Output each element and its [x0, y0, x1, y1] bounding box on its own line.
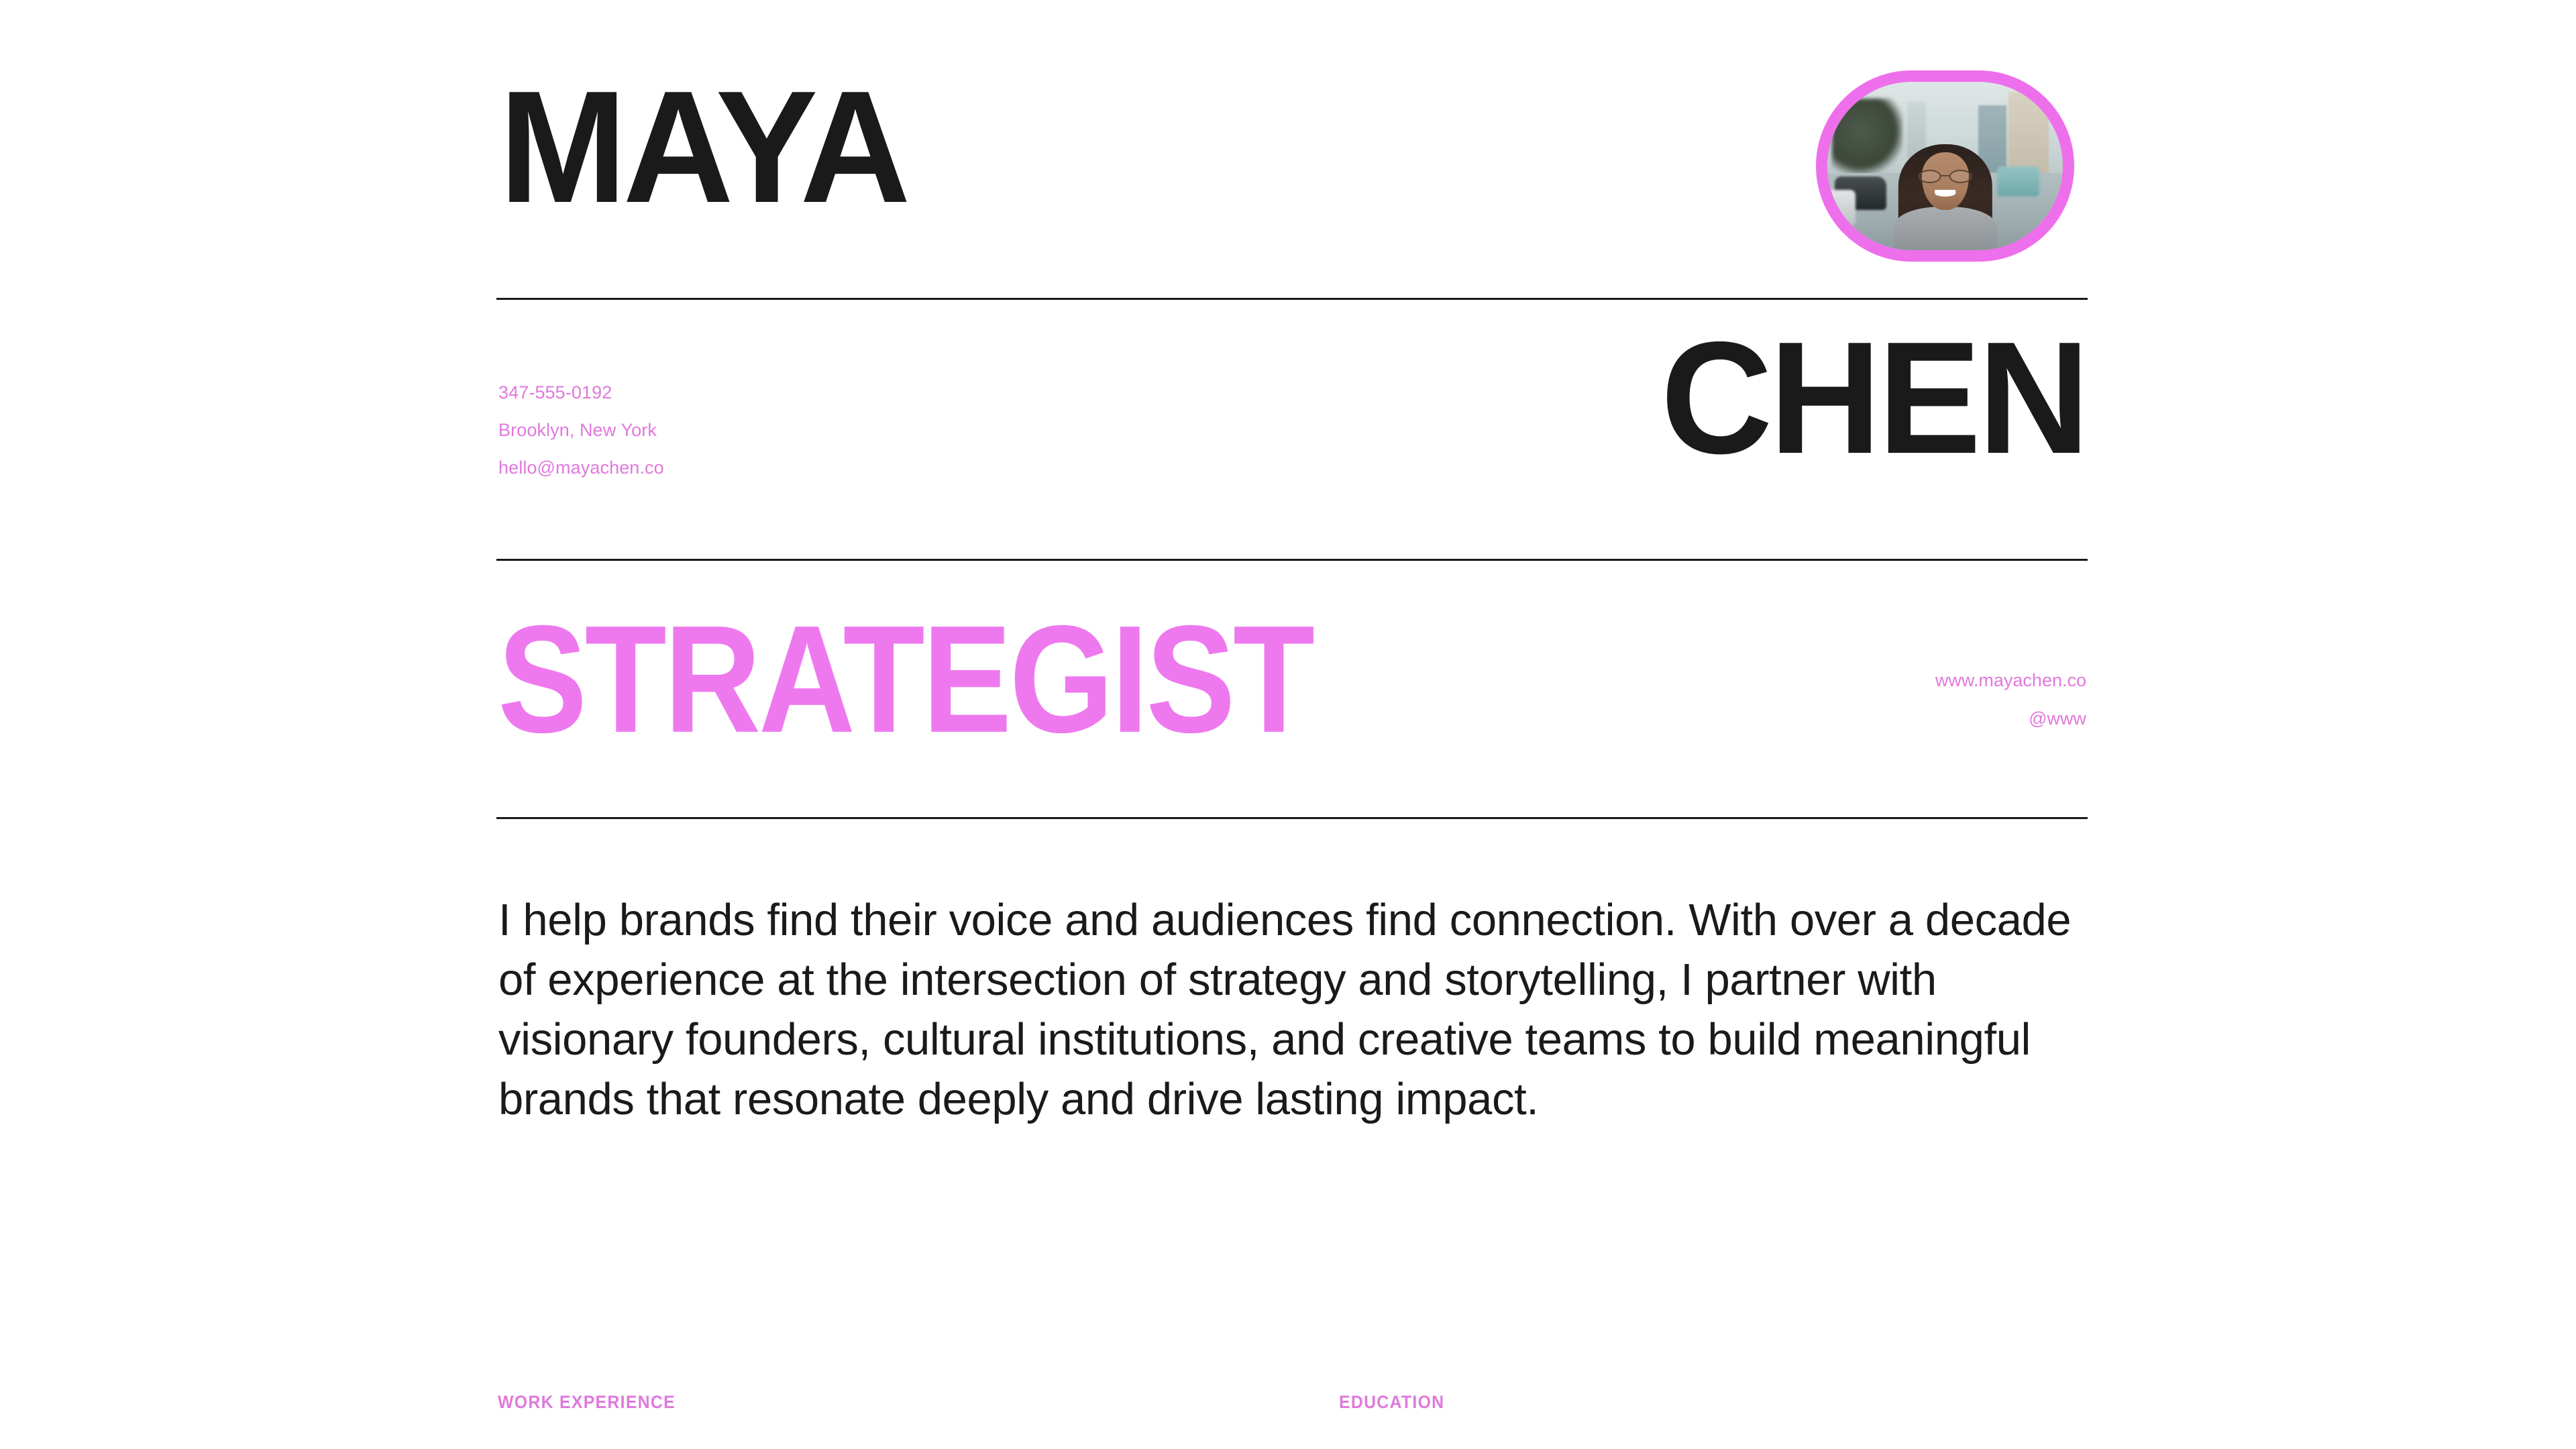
contact-list: 347-555-0192 Brooklyn, New York hello@ma…: [498, 374, 664, 486]
first-name-heading: MAYA: [499, 80, 907, 215]
avatar: [1816, 70, 2074, 262]
bio-paragraph: I help brands find their voice and audie…: [498, 890, 2088, 1129]
links-list: www.mayachen.co @www: [1935, 661, 2086, 738]
glasses-icon: [1918, 170, 1972, 183]
photo-bus: [1997, 166, 2039, 197]
photo-subject-shoulders: [1893, 207, 1996, 250]
photo-car-light: [1827, 190, 1856, 227]
photo-tree: [1832, 99, 1902, 179]
photo-building-right: [2008, 92, 2049, 176]
contact-row: 347-555-0192 Brooklyn, New York hello@ma…: [496, 300, 2088, 559]
role-title: STRATEGIST: [498, 602, 1312, 755]
resume-sheet: MAYA: [496, 0, 2088, 1449]
section-title-education: EDUCATION: [1339, 1392, 1444, 1413]
divider-bottom: [496, 817, 2088, 819]
glasses-lens-right: [1949, 170, 1972, 183]
contact-location: Brooklyn, New York: [498, 411, 664, 449]
link-social-handle[interactable]: @www: [1935, 700, 2086, 738]
contact-email[interactable]: hello@mayachen.co: [498, 449, 664, 486]
role-row: STRATEGIST www.mayachen.co @www: [496, 561, 2088, 817]
link-website[interactable]: www.mayachen.co: [1935, 661, 2086, 700]
resume-page: MAYA: [0, 0, 2576, 1449]
contact-phone[interactable]: 347-555-0192: [498, 374, 664, 411]
avatar-photo: [1827, 82, 2063, 250]
photo-subject-smile: [1935, 190, 1956, 197]
glasses-bridge: [1941, 175, 1949, 176]
section-headers: WORK EXPERIENCE EDUCATION: [496, 1392, 2088, 1449]
header-name-row: MAYA: [496, 0, 2088, 299]
last-name-heading: CHEN: [1660, 319, 2086, 478]
section-title-work-experience: WORK EXPERIENCE: [498, 1392, 676, 1413]
glasses-lens-left: [1918, 170, 1941, 183]
